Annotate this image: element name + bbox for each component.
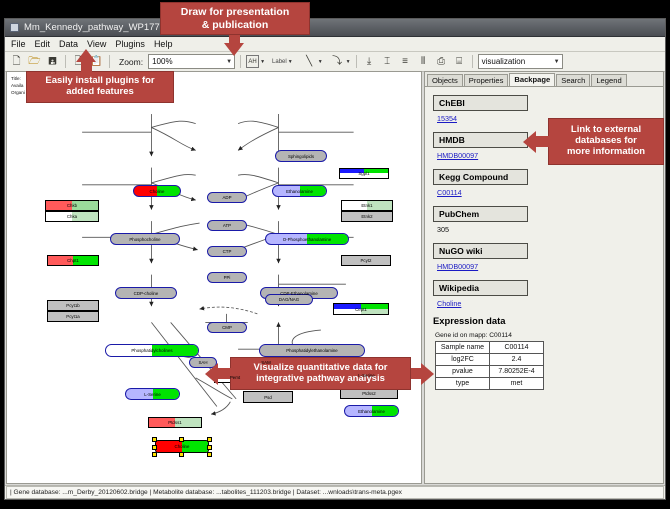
expr-val-sample-name: C00114: [490, 342, 544, 354]
node-cdp-choline[interactable]: CDP-choline: [115, 287, 177, 299]
toolbar: 🗋 🗁 🖪 🗋 📋 Zoom: 100% ▼ AH ▼ Label ▼ ╲: [5, 52, 665, 72]
node-label: ATP: [223, 223, 231, 228]
table-row: Sample name C00114: [436, 342, 544, 354]
db-name-wikipedia: Wikipedia: [433, 280, 528, 296]
table-row: type met: [436, 378, 544, 390]
callout-draw-arrow: [224, 43, 244, 56]
node-label: Pcyt1a: [66, 314, 79, 319]
callout-plugins-arrow: [76, 49, 96, 62]
node-ppi[interactable]: PPi: [207, 272, 247, 283]
node-label: ADP: [222, 195, 231, 200]
node-label: DAG/NAG: [279, 297, 299, 302]
node-adp[interactable]: ADP: [207, 192, 247, 203]
callout-visualize-arrow-right: [421, 363, 434, 385]
expr-val-log2fc: 2.4: [490, 354, 544, 366]
expression-data-heading: Expression data: [433, 315, 655, 326]
node-label: Cept1: [355, 307, 367, 312]
toolbar-separator-3: [240, 55, 241, 68]
node-o-phosphoethanolamine[interactable]: O-Phosphoethanolamine: [265, 233, 349, 245]
callout-links-arrow: [523, 131, 536, 153]
callout-plugins-stem: [81, 61, 92, 72]
line-tool-group[interactable]: ╲ ▼: [302, 54, 323, 69]
resize-handle-nw[interactable]: [152, 437, 157, 442]
node-label: Etnk2: [361, 214, 372, 219]
db-block-wikipedia: Wikipedia Choline: [433, 278, 655, 308]
line-tool-icon[interactable]: ╲: [302, 54, 317, 69]
callout-draw: Draw for presentation & publication: [160, 2, 310, 35]
tab-search[interactable]: Search: [556, 74, 590, 86]
node-etnk2[interactable]: Etnk2: [341, 211, 393, 222]
node-label: Pcyt2: [361, 258, 372, 263]
layout-tool-icon[interactable]: ⌸: [452, 54, 467, 69]
node-label: Pemt: [230, 375, 240, 380]
resize-handle-s[interactable]: [179, 452, 184, 457]
toolbar-separator-5: [472, 55, 473, 68]
resize-handle-ne[interactable]: [207, 437, 212, 442]
new-icon[interactable]: 🗋: [9, 54, 24, 69]
node-ethanolamine-top[interactable]: Ethanolamine: [272, 185, 327, 197]
node-label: Psd: [264, 395, 272, 400]
menu-item-view[interactable]: View: [87, 39, 106, 49]
callout-visualize: Visualize quantitative data for integrat…: [230, 357, 411, 390]
node-label: Chpt1: [67, 258, 79, 263]
node-phosphocholine[interactable]: Phosphocholine: [110, 233, 180, 245]
expr-key-sample-name: Sample name: [436, 342, 490, 354]
node-label: Pcyt1b: [66, 303, 79, 308]
db-value-pubchem: 305: [437, 225, 655, 234]
tab-objects[interactable]: Objects: [427, 74, 463, 86]
distribute-tool-icon[interactable]: ⦀: [416, 54, 431, 69]
node-atp[interactable]: ATP: [207, 220, 247, 231]
node-label: L-Serine: [144, 392, 161, 397]
node-cept1[interactable]: Cept1: [333, 303, 389, 315]
db-block-kegg: Kegg Compound C00114: [433, 167, 655, 197]
db-name-nugo: NuGO wiki: [433, 243, 528, 259]
tab-properties[interactable]: Properties: [464, 74, 509, 86]
menu-item-plugins[interactable]: Plugins: [115, 39, 145, 49]
chevron-down-icon[interactable]: ▼: [288, 59, 293, 65]
tab-legend[interactable]: Legend: [591, 74, 626, 86]
zoom-label: Zoom:: [119, 57, 143, 67]
node-l-serine-left[interactable]: L-Serine: [125, 388, 180, 400]
node-chka[interactable]: Chka: [45, 211, 99, 222]
node-label: SAM: [261, 360, 271, 365]
tab-backpage[interactable]: Backpage: [509, 73, 555, 86]
menu-item-help[interactable]: Help: [154, 39, 173, 49]
node-label: Choline: [150, 189, 165, 194]
node-chpt1[interactable]: Chpt1: [47, 255, 99, 266]
node-pcyt1a[interactable]: Pcyt1a: [47, 311, 99, 322]
chevron-down-icon[interactable]: ▼: [260, 59, 265, 65]
callout-links: Link to external databases for more info…: [548, 118, 664, 165]
chevron-down-icon: ▼: [554, 59, 560, 65]
resize-handle-se[interactable]: [207, 452, 212, 457]
menu-item-edit[interactable]: Edit: [35, 39, 51, 49]
table-row: log2FC 2.4: [436, 354, 544, 366]
save-icon[interactable]: 🖪: [45, 54, 60, 69]
node-label: O-Phosphoethanolamine: [283, 237, 332, 242]
node-pcyt1b[interactable]: Pcyt1b: [47, 300, 99, 311]
table-row: pvalue 7.80252E-4: [436, 366, 544, 378]
db-name-pubchem: PubChem: [433, 206, 528, 222]
resize-handle-sw[interactable]: [152, 452, 157, 457]
node-psd[interactable]: Psd: [243, 391, 293, 403]
node-etnk1[interactable]: Etnk1: [341, 200, 393, 211]
expr-val-pvalue: 7.80252E-4: [490, 366, 544, 378]
menubar: File Edit Data View Plugins Help: [5, 37, 665, 52]
node-ctp[interactable]: CTP: [207, 246, 247, 257]
label-tool-group[interactable]: Label ▼: [272, 59, 293, 65]
node-dag-nag[interactable]: DAG/NAG: [265, 294, 313, 305]
node-label: CDP-Ethanolamine: [280, 291, 318, 296]
status-bar: | Gene database: ...m_Derby_20120602.bri…: [5, 485, 665, 499]
node-label: Sgpl1: [358, 171, 369, 176]
pathway-drawing[interactable]: Title: Availa Organi: [7, 72, 421, 483]
align-left-tool-icon[interactable]: ⌶: [380, 54, 395, 69]
node-label: Chkb: [67, 203, 77, 208]
interaction-tool-group[interactable]: ⤵ ▼: [330, 54, 351, 69]
node-label: CDP-choline: [134, 291, 159, 296]
db-link-wikipedia[interactable]: Choline: [437, 299, 655, 308]
node-label: L-Serine: [358, 373, 375, 378]
panel-tabs: Objects Properties Backpage Search Legen…: [425, 72, 663, 87]
callout-links-stem: [536, 136, 549, 147]
stack-tool-icon[interactable]: ≡: [398, 54, 413, 69]
chevron-down-icon: ▼: [226, 59, 232, 65]
window-titlebar: Mm_Kennedy_pathway_WP1771_45176.gpml: [5, 19, 665, 37]
status-text: | Gene database: ...m_Derby_20120602.bri…: [6, 486, 664, 499]
expr-key-type: type: [436, 378, 490, 390]
zoom-value: 100%: [152, 57, 172, 66]
db-block-pubchem: PubChem 305: [433, 204, 655, 234]
node-label: Phosphatidylethanolamine: [286, 348, 338, 353]
node-pcyt2[interactable]: Pcyt2: [341, 255, 391, 266]
pathway-canvas[interactable]: Title: Availa Organi: [6, 71, 422, 484]
node-chkb[interactable]: Chkb: [45, 200, 99, 211]
node-phosphatidylethanolamine[interactable]: Phosphatidylethanolamine: [259, 344, 365, 357]
toolbar-separator-1: [65, 55, 66, 68]
expr-key-pvalue: pvalue: [436, 366, 490, 378]
node-choline[interactable]: Choline: [133, 185, 181, 197]
node-label: Ethanolamine: [286, 189, 313, 194]
expr-key-log2fc: log2FC: [436, 354, 490, 366]
node-label: PPi: [224, 275, 231, 280]
print-tool-icon[interactable]: ⎙: [434, 54, 449, 69]
align-tool-icon[interactable]: ⤓: [362, 54, 377, 69]
menu-item-file[interactable]: File: [11, 39, 26, 49]
node-cmp[interactable]: CMP: [207, 322, 247, 333]
db-name-kegg: Kegg Compound: [433, 169, 528, 185]
db-link-nugo[interactable]: HMDB00097: [437, 262, 655, 271]
zoom-combo[interactable]: 100% ▼: [148, 54, 235, 69]
node-label: CTP: [223, 249, 232, 254]
node-label: Ethanolamine: [358, 409, 385, 414]
db-name-hmdb: HMDB: [433, 132, 528, 148]
text-tool-group[interactable]: AH ▼: [246, 55, 265, 68]
expression-table: Sample name C00114 log2FC 2.4 pvalue 7.8…: [435, 341, 544, 390]
app-icon: [9, 22, 20, 33]
node-label: SAH: [198, 360, 207, 365]
text-tool-icon[interactable]: AH: [246, 55, 259, 68]
expr-val-type: met: [490, 378, 544, 390]
toolbar-separator-2: [109, 55, 110, 68]
menu-item-data[interactable]: Data: [59, 39, 78, 49]
db-block-nugo: NuGO wiki HMDB00097: [433, 241, 655, 271]
node-label: Ptdss1: [168, 420, 181, 425]
screenshot-root: Mm_Kennedy_pathway_WP1771_45176.gpml Fil…: [0, 0, 670, 509]
node-label: CMP: [222, 325, 232, 330]
db-link-kegg[interactable]: C00114: [437, 188, 655, 197]
open-icon[interactable]: 🗁: [27, 54, 42, 69]
callout-visualize-arrow: [205, 363, 218, 385]
node-sgpl1[interactable]: Sgpl1: [339, 168, 389, 179]
node-sphingolipids[interactable]: Sphingolipids: [275, 150, 327, 162]
node-phosphatidylcholines[interactable]: Phosphatidylcholines: [105, 344, 199, 357]
node-label: Choline: [175, 444, 190, 449]
visualization-value: visualization: [482, 57, 526, 66]
chevron-down-icon[interactable]: ▼: [346, 59, 351, 65]
node-label: Chka: [67, 214, 77, 219]
resize-handle-n[interactable]: [179, 437, 184, 442]
interaction-tool-icon[interactable]: ⤵: [330, 54, 345, 69]
callout-plugins: Easily install plugins for added feature…: [26, 71, 174, 103]
node-label: Ptdss2: [362, 391, 375, 396]
node-ptdss1[interactable]: Ptdss1: [148, 417, 202, 428]
resize-handle-w[interactable]: [152, 445, 157, 450]
resize-handle-e[interactable]: [207, 445, 212, 450]
db-name-chebi: ChEBI: [433, 95, 528, 111]
node-label: Etnk1: [361, 203, 372, 208]
node-ethanolamine-bottom[interactable]: Ethanolamine: [344, 405, 399, 417]
visualization-combo[interactable]: visualization ▼: [478, 54, 563, 69]
node-label: Sphingolipids: [288, 154, 314, 159]
gene-id-on-mapp: Gene id on mapp: C00114: [435, 332, 655, 339]
toolbar-separator-4: [356, 55, 357, 68]
node-label: Phosphatidylcholines: [131, 348, 172, 353]
chevron-down-icon[interactable]: ▼: [318, 59, 323, 65]
node-label: Phosphocholine: [129, 237, 160, 242]
label-tool-icon[interactable]: Label: [272, 59, 287, 65]
